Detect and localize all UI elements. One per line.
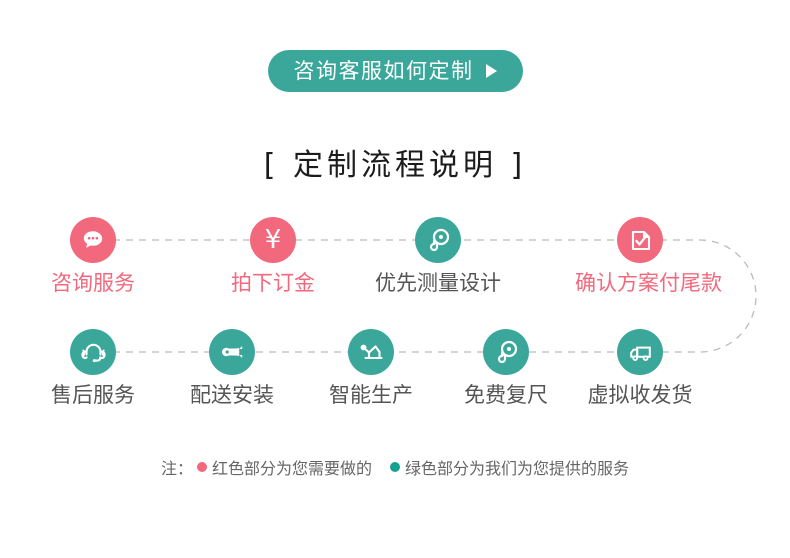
legend-label-teal: 绿色部分为我们为您提供的服务 (405, 455, 629, 479)
pink-dot-icon (197, 462, 207, 472)
flow-step-label: 配送安装 (167, 384, 297, 407)
flow-step-label: 虚拟收发货 (575, 384, 705, 407)
legend-footnote: 注： 红色部分为您需要做的 绿色部分为我们为您提供的服务 (0, 455, 790, 479)
delivery-truck-icon (617, 329, 663, 375)
play-triangle-icon (486, 64, 497, 78)
flow-step-delivery-installation[interactable]: 配送安装 (167, 329, 297, 407)
measuring-tape-icon (483, 329, 529, 375)
page-title-container: [ 定制流程说明 ] (0, 148, 790, 184)
flow-step-after-sales-service[interactable]: 售后服务 (28, 329, 158, 407)
flow-step-virtual-shipping[interactable]: 虚拟收发货 (575, 329, 705, 407)
flow-step-smart-production[interactable]: 智能生产 (306, 329, 436, 407)
teal-dot-icon (390, 462, 400, 472)
flow-step-label: 售后服务 (28, 384, 158, 407)
page-title: [ 定制流程说明 ] (0, 148, 790, 184)
robot-arm-icon (348, 329, 394, 375)
banner-container: 咨询客服如何定制 (0, 50, 790, 92)
consult-service-banner[interactable]: 咨询客服如何定制 (268, 50, 523, 92)
measuring-tape-icon (415, 217, 461, 263)
wrench-icon (209, 329, 255, 375)
flow-step-label: 确认方案付尾款 (575, 272, 705, 295)
flow-step-label: 拍下订金 (208, 272, 338, 295)
flow-step-label: 智能生产 (306, 384, 436, 407)
flow-step-label: 优先测量设计 (373, 272, 503, 295)
checklist-document-icon (617, 217, 663, 263)
flow-step-label: 免费复尺 (441, 384, 571, 407)
chat-bubble-icon (70, 217, 116, 263)
flow-step-pay-deposit[interactable]: ¥ 拍下订金 (208, 217, 338, 295)
flow-step-free-remeasure[interactable]: 免费复尺 (441, 329, 571, 407)
flow-step-priority-measure-design[interactable]: 优先测量设计 (373, 217, 503, 295)
flow-step-consult-service[interactable]: 咨询服务 (28, 217, 158, 295)
legend-item-customer: 红色部分为您需要做的 (195, 455, 372, 479)
flow-step-label: 咨询服务 (28, 272, 158, 295)
yen-currency-icon: ¥ (250, 217, 296, 263)
legend-label-pink: 红色部分为您需要做的 (212, 455, 372, 479)
flow-diagram: 咨询服务 ¥ 拍下订金 优先测量设计 (0, 208, 790, 438)
legend-item-service: 绿色部分为我们为您提供的服务 (388, 455, 629, 479)
customization-flow-page: 咨询客服如何定制 [ 定制流程说明 ] (0, 0, 790, 558)
flow-step-confirm-plan-final-payment[interactable]: 确认方案付尾款 (575, 217, 705, 295)
banner-label: 咨询客服如何定制 (294, 61, 474, 82)
footnote-prefix: 注： (161, 455, 193, 479)
headset-icon (70, 329, 116, 375)
